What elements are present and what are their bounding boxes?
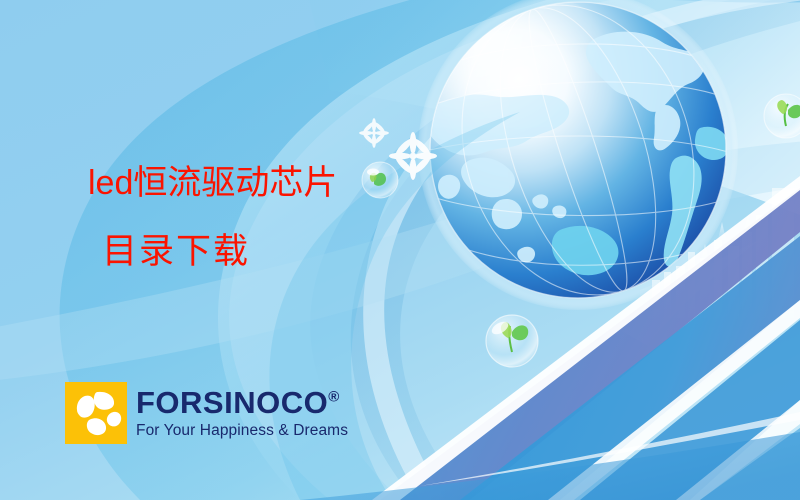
headline-text: led恒流驱动芯片 目录下载 xyxy=(88,166,418,269)
logo-mark-icon xyxy=(65,382,127,444)
logo-tagline: For Your Happiness & Dreams xyxy=(136,423,348,439)
registered-trademark-icon: ® xyxy=(328,389,340,406)
slide-canvas: led恒流驱动芯片 目录下载 FORSINOCO® For Your Happi… xyxy=(0,0,800,500)
company-logo: FORSINOCO® For Your Happiness & Dreams xyxy=(65,382,348,444)
logo-company-name-text: FORSINOCO xyxy=(136,385,328,420)
logo-text-block: FORSINOCO® For Your Happiness & Dreams xyxy=(136,387,348,439)
headline-line-1: led恒流驱动芯片 xyxy=(88,166,418,201)
headline-line-2: 目录下载 xyxy=(102,234,418,270)
bubble-large-center xyxy=(486,315,538,367)
logo-company-name: FORSINOCO® xyxy=(136,387,348,418)
